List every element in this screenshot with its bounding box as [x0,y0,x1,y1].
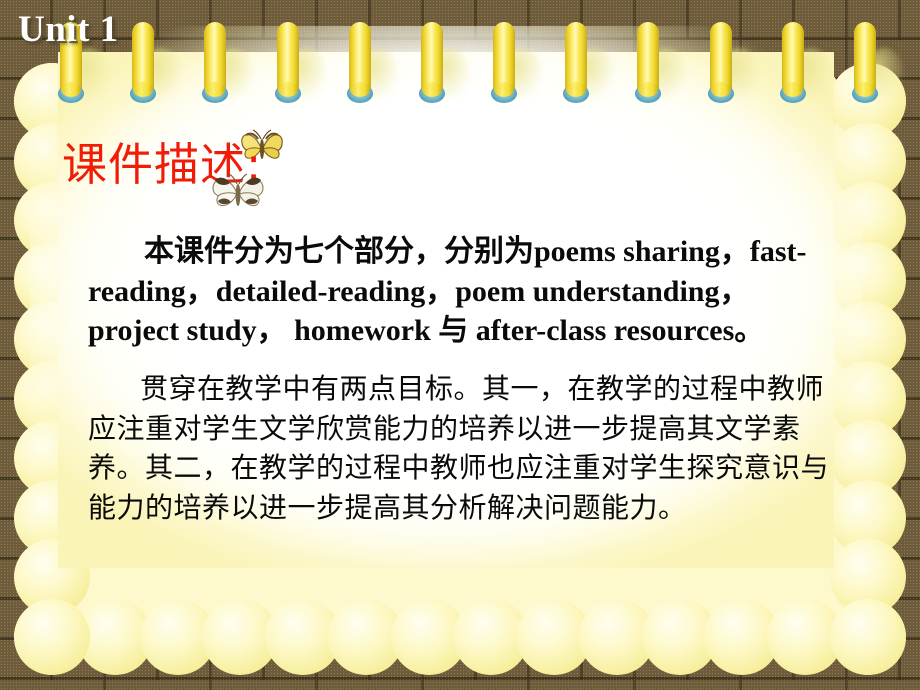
description-body: 本课件分为七个部分，分别为poems sharing，fast-reading，… [88,232,836,546]
description-paragraph-2: 贯穿在教学中有两点目标。其一，在教学的过程中教师应注重对学生文学欣赏能力的培养以… [88,369,836,528]
binding-ring-eyelet-inner [61,82,81,97]
binding-ring [852,22,878,104]
binding-ring [275,22,301,104]
binding-ring-eyelet-inner [494,82,514,97]
binding-ring [419,22,445,104]
slide-canvas: Unit 1 课件描述: [0,0,920,690]
binding-ring [491,22,517,104]
binding-ring-eyelet-inner [783,82,803,97]
binding-ring [708,22,734,104]
binding-ring-eyelet-inner [855,82,875,97]
butterfly-white-icon [209,172,267,216]
spiral-binding-rings [0,0,920,120]
page-title: Unit 1 [18,8,119,51]
binding-ring [563,22,589,104]
binding-ring [780,22,806,104]
scallop-circle [830,599,906,675]
binding-ring-eyelet-inner [278,82,298,97]
binding-ring [202,22,228,104]
description-paragraph-1: 本课件分为七个部分，分别为poems sharing，fast-reading，… [88,232,836,351]
binding-ring [347,22,373,104]
binding-ring-eyelet-inner [350,82,370,97]
binding-ring [130,22,156,104]
binding-ring-eyelet-inner [422,82,442,97]
scallop-circle [14,599,90,675]
binding-ring [635,22,661,104]
binding-ring-eyelet-inner [711,82,731,97]
